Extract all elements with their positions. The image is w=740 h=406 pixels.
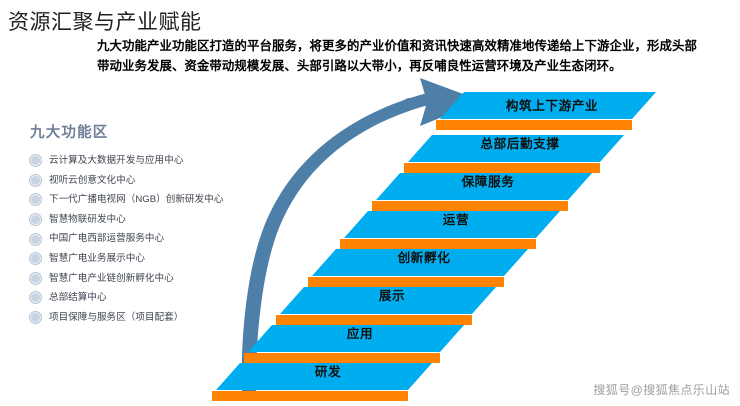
ring-bullet-icon	[30, 234, 41, 245]
sidebar-item-label: 智慧广电产业链创新孵化中心	[49, 274, 174, 284]
sidebar-item-label: 视听云创意文化中心	[49, 176, 135, 186]
ring-bullet-icon	[30, 253, 41, 264]
step-label-zhanshi: 展示	[304, 285, 480, 304]
ring-bullet-icon	[30, 175, 41, 186]
sidebar-item-label: 智慧广电业务展示中心	[49, 254, 145, 264]
sidebar-item-industry-chain-incubation[interactable]: 智慧广电产业链创新孵化中心	[30, 269, 255, 289]
ring-bullet-icon	[30, 214, 41, 225]
sidebar-item-west-operations[interactable]: 中国广电西部运营服务中心	[30, 229, 255, 249]
step-label-gouzhu-chanye: 构筑上下游产业	[464, 95, 640, 114]
functional-zones-sidebar: 九大功能区 云计算及大数据开发与应用中心 视听云创意文化中心 下一代广播电视网（…	[30, 121, 255, 327]
step-label-chuangxin-fuhua: 创新孵化	[336, 247, 512, 266]
sidebar-item-cloud-bigdata[interactable]: 云计算及大数据开发与应用中心	[30, 151, 255, 171]
ring-bullet-icon	[30, 273, 41, 284]
sidebar-item-business-showcase[interactable]: 智慧广电业务展示中心	[30, 249, 255, 269]
sidebar-item-label: 云计算及大数据开发与应用中心	[49, 156, 183, 166]
sidebar-item-label: 下一代广播电视网（NGB）创新研发中心	[49, 195, 223, 205]
step-label-zongbu-houqin: 总部后勤支撑	[432, 133, 608, 152]
sidebar-item-label: 智慧物联研发中心	[49, 215, 126, 225]
sidebar-item-project-support[interactable]: 项目保障与服务区（项目配套）	[30, 308, 255, 328]
watermark: 搜狐号@搜狐焦点乐山站	[593, 381, 730, 398]
ring-bullet-icon	[30, 194, 41, 205]
step-label-yanfa: 研发	[240, 361, 416, 380]
sidebar-item-hq-settlement[interactable]: 总部结算中心	[30, 288, 255, 308]
sidebar-item-label: 中国广电西部运营服务中心	[49, 234, 164, 244]
sidebar-item-ngb-innovation[interactable]: 下一代广播电视网（NGB）创新研发中心	[30, 190, 255, 210]
intro-paragraph: 九大功能产业功能区打造的平台服务，将更多的产业价值和资讯快速高效精准地传递给上下…	[97, 36, 697, 76]
ring-bullet-icon	[30, 312, 41, 323]
step-label-baozhang-fuwu: 保障服务	[400, 171, 576, 190]
sidebar-item-av-cloud-culture[interactable]: 视听云创意文化中心	[30, 171, 255, 191]
sidebar-heading: 九大功能区	[30, 121, 255, 142]
sidebar-item-smart-iot-rd[interactable]: 智慧物联研发中心	[30, 210, 255, 230]
sidebar-item-label: 项目保障与服务区（项目配套）	[49, 313, 183, 323]
page-title: 资源汇聚与产业赋能	[8, 6, 202, 36]
curved-up-arrow-icon	[242, 78, 482, 392]
ring-bullet-icon	[30, 155, 41, 166]
step-label-yingyong: 应用	[272, 323, 448, 342]
ring-bullet-icon	[30, 292, 41, 303]
sidebar-item-label: 总部结算中心	[49, 293, 107, 303]
step-label-yunying: 运营	[368, 209, 544, 228]
